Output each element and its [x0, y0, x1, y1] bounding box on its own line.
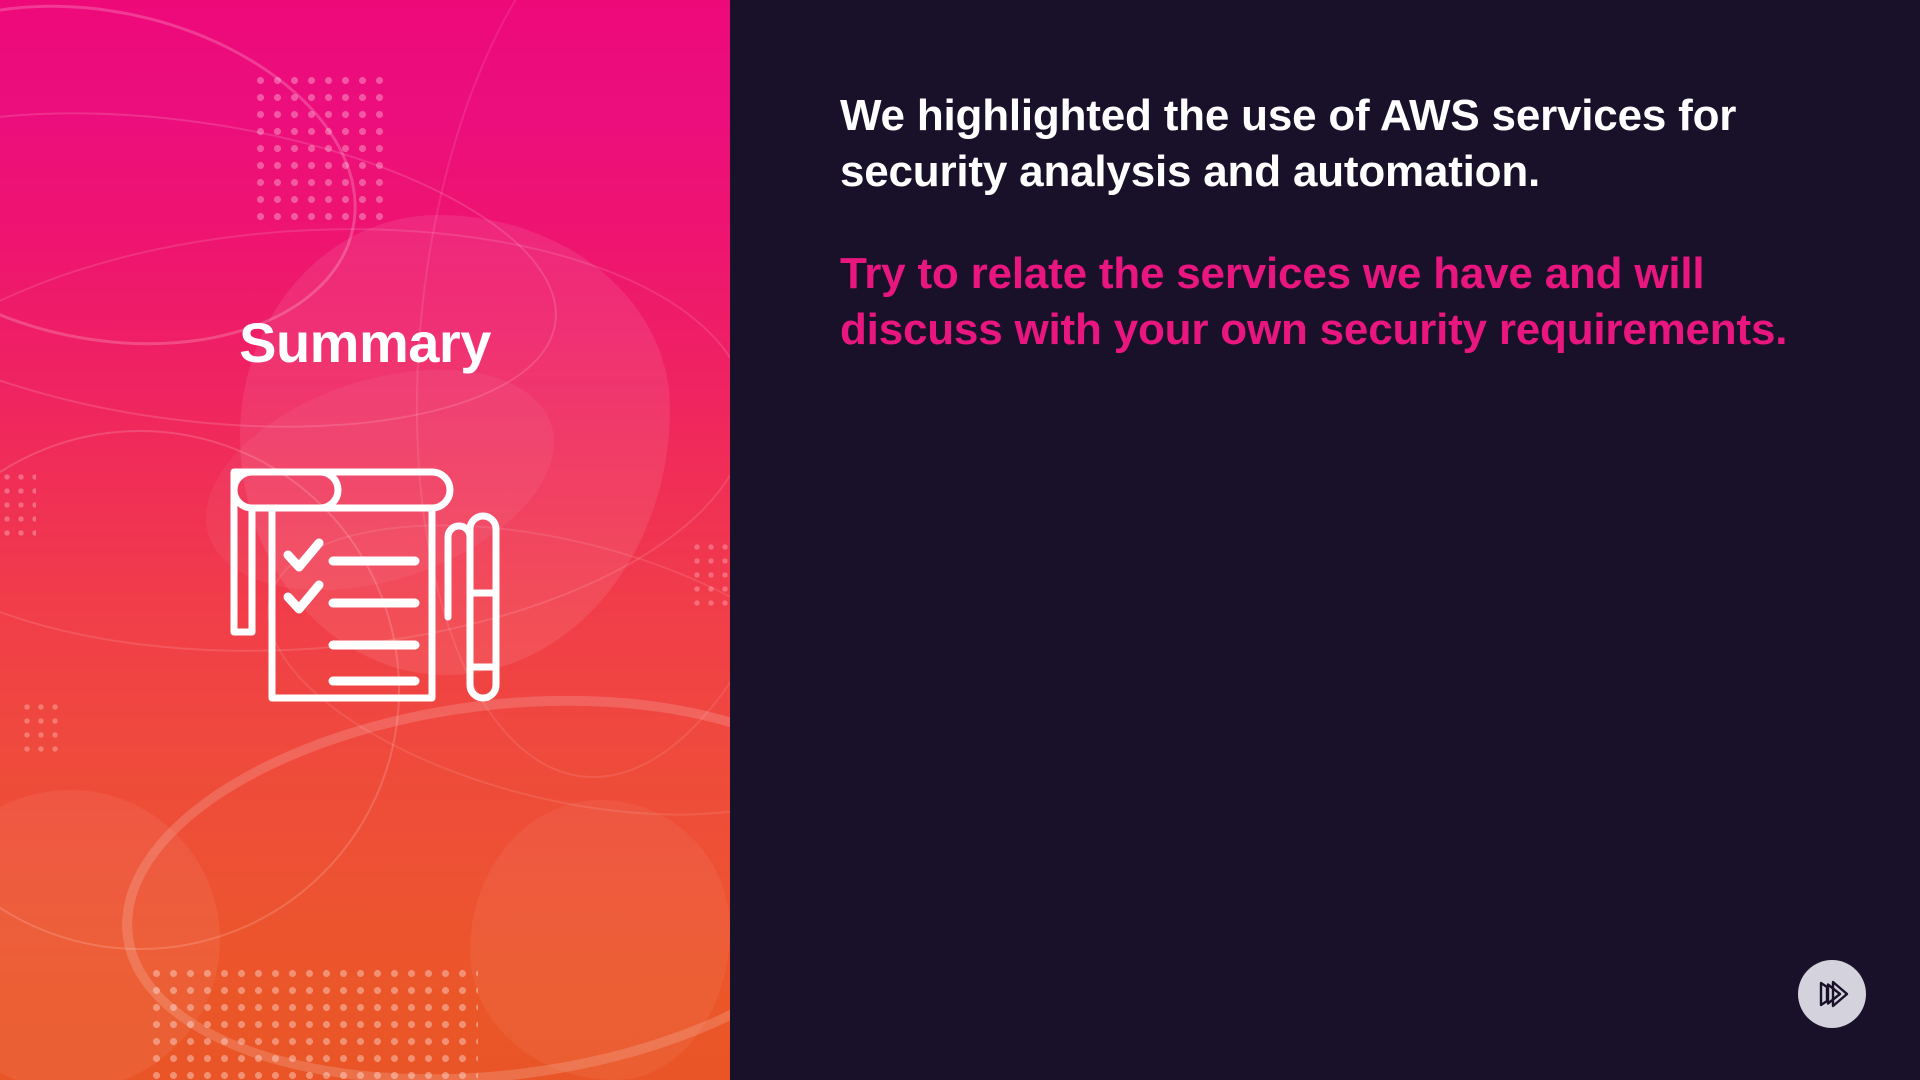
paragraph-accent: Try to relate the services we have and w… — [840, 246, 1800, 358]
presentation-slide: Summary — [0, 0, 1920, 1080]
paragraph-primary: We highlighted the use of AWS services f… — [840, 88, 1800, 200]
halftone-dot-pattern-top — [252, 72, 392, 222]
decorative-blob — [470, 800, 730, 1080]
halftone-dot-pattern-left — [0, 470, 36, 540]
halftone-dot-pattern-bottom — [148, 965, 478, 1080]
content-panel: We highlighted the use of AWS services f… — [730, 0, 1920, 1080]
notepad-checklist-pen-icon — [200, 445, 530, 735]
decorative-stroke — [0, 69, 577, 472]
page-title: Summary — [0, 310, 730, 375]
left-gradient-panel: Summary — [0, 0, 730, 1080]
halftone-dot-pattern-right — [690, 540, 730, 610]
pluralsight-play-logo-icon — [1798, 960, 1866, 1028]
body-copy: We highlighted the use of AWS services f… — [840, 88, 1800, 358]
decorative-blob — [0, 790, 220, 1080]
halftone-dot-pattern-left-lower — [20, 700, 65, 760]
